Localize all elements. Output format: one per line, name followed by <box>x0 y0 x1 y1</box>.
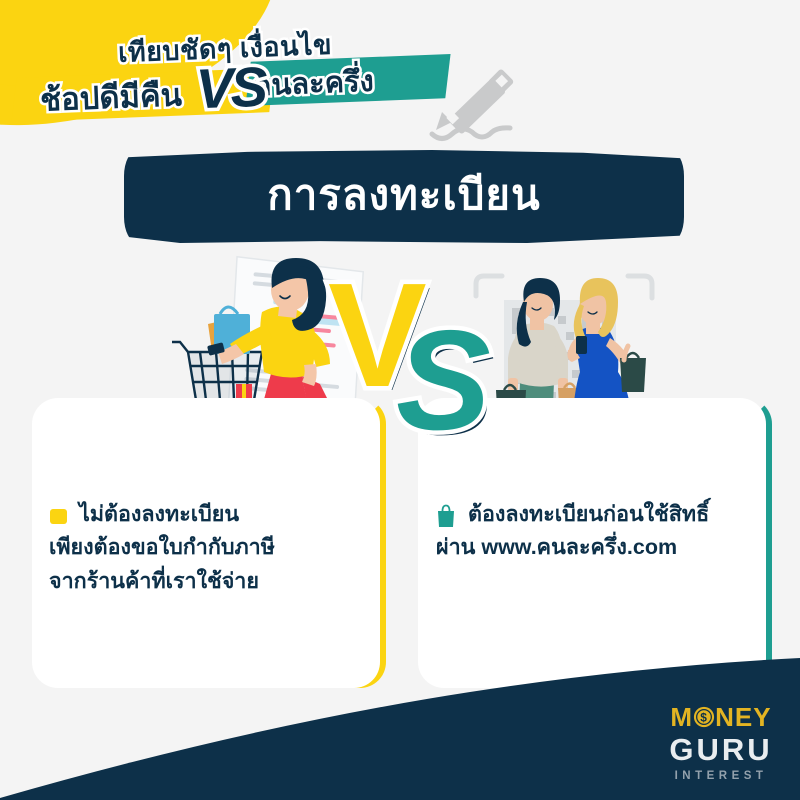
right-scheme-label: คนละครึ่ง <box>251 58 374 109</box>
pencil-signature-icon <box>418 56 528 156</box>
logo-money: M $ NEY <box>660 704 782 730</box>
logo-interest: INTEREST <box>660 771 782 783</box>
infographic-canvas: เทียบชัดๆ เงื่อนไข ช้อปดีมีคืน คนละครึ่ง… <box>0 0 800 800</box>
right-card-text: ต้องลงทะเบียนก่อนใช้สิทธิ์ ผ่าน www.คนละ… <box>468 498 709 565</box>
left-card-line-1: ไม่ต้องลงทะเบียน <box>79 498 275 531</box>
left-scheme-label: ช้อปดีมีคืน <box>39 69 183 124</box>
yellow-square-bullet-icon <box>50 509 67 524</box>
right-card-line-1: ต้องลงทะเบียนก่อนใช้สิทธิ์ <box>468 498 709 531</box>
coin-dollar-icon: $ <box>693 706 715 728</box>
header-versus-label: VS <box>195 54 266 122</box>
page-title: การลงทะเบียน <box>267 174 540 220</box>
logo-coin-symbol: $ <box>700 710 708 724</box>
left-card-text: ไม่ต้องลงทะเบียน เพียงต้องขอใบกำกับภาษี … <box>79 498 275 598</box>
left-card-line-2: เพียงต้องขอใบกำกับภาษี <box>49 531 275 564</box>
versus-s: S <box>396 301 491 452</box>
brand-logo: M $ NEY GURU INTEREST <box>660 704 782 783</box>
logo-money-m: M <box>670 704 693 730</box>
teal-shopping-bag-icon <box>436 504 456 528</box>
logo-money-ney: NEY <box>715 704 771 730</box>
page-title-banner: การลงทะเบียน <box>124 150 684 243</box>
right-card-line-2: ผ่าน www.คนละครึ่ง.com <box>436 531 709 564</box>
logo-guru: GURU <box>660 734 782 765</box>
versus-graphic: V V S S <box>322 262 502 452</box>
left-card-line-3: จากร้านค้าที่เราใช้จ่าย <box>49 565 275 598</box>
